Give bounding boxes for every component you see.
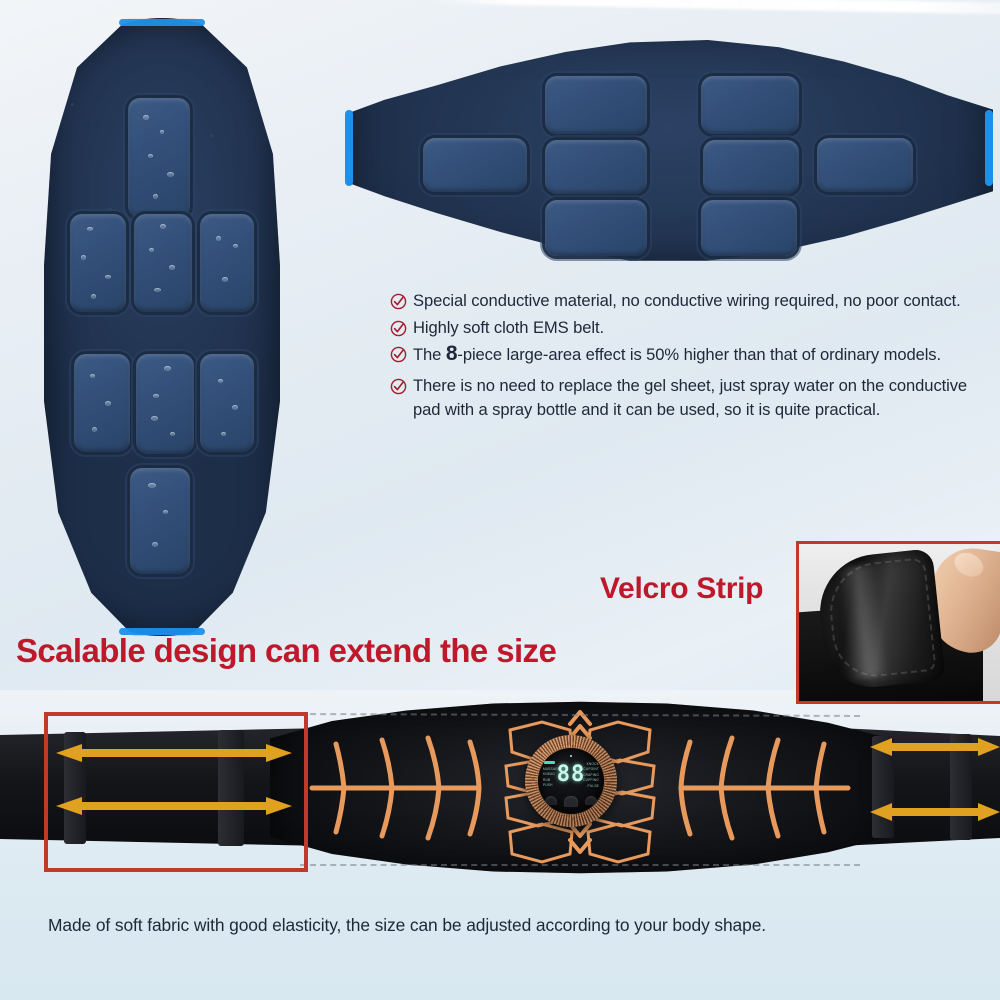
controller-buttons[interactable] xyxy=(538,796,604,807)
conductive-pad xyxy=(74,354,130,452)
water-droplets xyxy=(130,468,190,574)
conductive-pad xyxy=(200,214,254,312)
screen-indicator-dot xyxy=(570,755,572,757)
belt-top-trim-right xyxy=(985,110,993,187)
belt-left-trim-top xyxy=(119,19,205,26)
check-circle-icon xyxy=(390,293,407,310)
water-droplets xyxy=(200,354,254,452)
check-circle-icon xyxy=(390,346,407,363)
screen-level-digits: 88 xyxy=(557,764,586,785)
feature-item: There is no need to replace the gel shee… xyxy=(390,374,990,423)
conductive-pad xyxy=(70,214,126,312)
extension-arrow-right-lower xyxy=(870,803,1000,821)
controller-button-power[interactable] xyxy=(564,796,578,807)
feature-text-3-after: -piece large-area effect is 50% higher t… xyxy=(457,345,941,364)
belt-left-vertical-image xyxy=(44,18,280,636)
conductive-pad xyxy=(701,200,797,256)
conductive-pad xyxy=(200,354,254,452)
conductive-pad xyxy=(703,140,799,194)
velcro-strip-photo xyxy=(796,541,1000,704)
feature-text: There is no need to replace the gel shee… xyxy=(413,374,990,423)
water-droplets xyxy=(70,214,126,312)
bottom-caption: Made of soft fabric with good elasticity… xyxy=(48,910,968,940)
conductive-pad xyxy=(545,76,647,134)
ems-controller-display[interactable]: MASSAGEKNEADRUBPUSH KNOCKACUPOINTSCRAPIN… xyxy=(525,735,617,827)
belt-top-trim-left xyxy=(345,110,353,187)
feature-item: Highly soft cloth EMS belt. xyxy=(390,316,990,341)
water-droplets xyxy=(136,354,194,454)
conductive-pad xyxy=(423,138,527,192)
feature-text: Special conductive material, no conducti… xyxy=(413,289,961,314)
highlight-box-adjustable-section xyxy=(44,712,308,872)
conductive-pad xyxy=(817,138,913,192)
product-infographic: Special conductive material, no conducti… xyxy=(0,0,1000,1000)
water-droplets xyxy=(200,214,254,312)
fingernail xyxy=(951,548,988,581)
pad-count-emphasis: 8 xyxy=(446,342,458,365)
light-streak xyxy=(430,0,1000,17)
water-droplets xyxy=(128,98,190,218)
feature-item: Special conductive material, no conducti… xyxy=(390,289,990,314)
conductive-pad xyxy=(128,98,190,218)
extension-arrow-right-upper xyxy=(870,738,1000,756)
conductive-pad xyxy=(545,140,647,194)
water-droplets xyxy=(134,214,192,312)
controller-button-plus[interactable] xyxy=(585,796,597,805)
water-droplets xyxy=(74,354,130,452)
conductive-pad xyxy=(134,214,192,312)
check-circle-icon xyxy=(390,378,407,395)
check-circle-icon xyxy=(390,320,407,337)
conductive-pad xyxy=(136,354,194,454)
feature-text-3: The 8-piece large-area effect is 50% hig… xyxy=(413,342,941,368)
belt-stitching-bottom xyxy=(300,864,860,866)
scalable-design-title: Scalable design can extend the size xyxy=(16,632,556,670)
feature-text-3-before: The xyxy=(413,345,446,364)
controller-screen: MASSAGEKNEADRUBPUSH KNOCKACUPOINTSCRAPIN… xyxy=(538,748,604,814)
feature-list: Special conductive material, no conducti… xyxy=(390,289,990,425)
feature-item: The 8-piece large-area effect is 50% hig… xyxy=(390,342,990,368)
screen-battery-bar xyxy=(544,761,555,764)
controller-button-minus[interactable] xyxy=(545,796,557,805)
feature-text: Highly soft cloth EMS belt. xyxy=(413,316,604,341)
belt-top-horizontal-image xyxy=(345,28,993,268)
velcro-strip-label: Velcro Strip xyxy=(600,572,763,606)
conductive-pad xyxy=(130,468,190,574)
conductive-pad xyxy=(545,200,647,256)
conductive-pad xyxy=(701,76,799,134)
